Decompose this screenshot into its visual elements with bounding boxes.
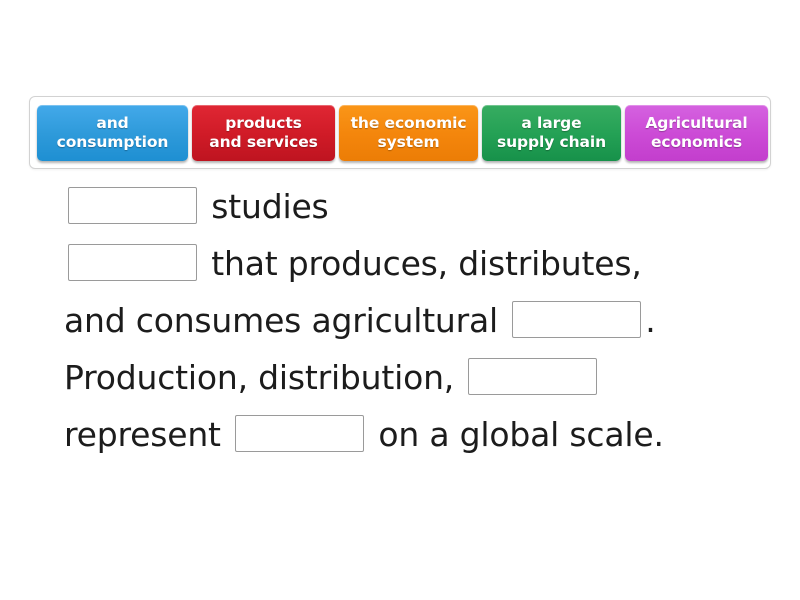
drop-blank-2[interactable] <box>68 244 197 281</box>
answer-tile-label: a large supply chain <box>497 114 606 152</box>
sentence-line-5: represent on a global scale. <box>64 406 764 463</box>
answer-tile-label: and consumption <box>57 114 169 152</box>
answer-tile-and-consumption[interactable]: and consumption <box>37 105 188 161</box>
fill-in-the-blank-sentence: studies that produces, distributes, and … <box>64 178 764 463</box>
sentence-text-5b: on a global scale. <box>368 415 664 454</box>
sentence-text-2: that produces, distributes, <box>201 244 642 283</box>
sentence-line-2: that produces, distributes, <box>64 235 764 292</box>
answer-tile-label: products and services <box>209 114 318 152</box>
drop-blank-3[interactable] <box>512 301 641 338</box>
answer-tile-a-large-supply-chain[interactable]: a large supply chain <box>482 105 621 161</box>
sentence-text-5a: represent <box>64 415 231 454</box>
sentence-line-3: and consumes agricultural . <box>64 292 764 349</box>
sentence-text-1: studies <box>201 187 329 226</box>
answer-tile-the-economic-system[interactable]: the economic system <box>339 105 478 161</box>
answer-tile-tray: and consumption products and services th… <box>29 96 771 169</box>
sentence-text-4: Production, distribution, <box>64 358 464 397</box>
drop-blank-4[interactable] <box>468 358 597 395</box>
answer-tile-products-and-services[interactable]: products and services <box>192 105 335 161</box>
answer-tile-agricultural-economics[interactable]: Agricultural economics <box>625 105 768 161</box>
sentence-text-3b: . <box>645 301 655 340</box>
sentence-line-4: Production, distribution, <box>64 349 764 406</box>
answer-tile-label: Agricultural economics <box>645 114 747 152</box>
sentence-text-3a: and consumes agricultural <box>64 301 508 340</box>
drop-blank-1[interactable] <box>68 187 197 224</box>
answer-tile-label: the economic system <box>351 114 467 152</box>
sentence-line-1: studies <box>64 178 764 235</box>
drop-blank-5[interactable] <box>235 415 364 452</box>
